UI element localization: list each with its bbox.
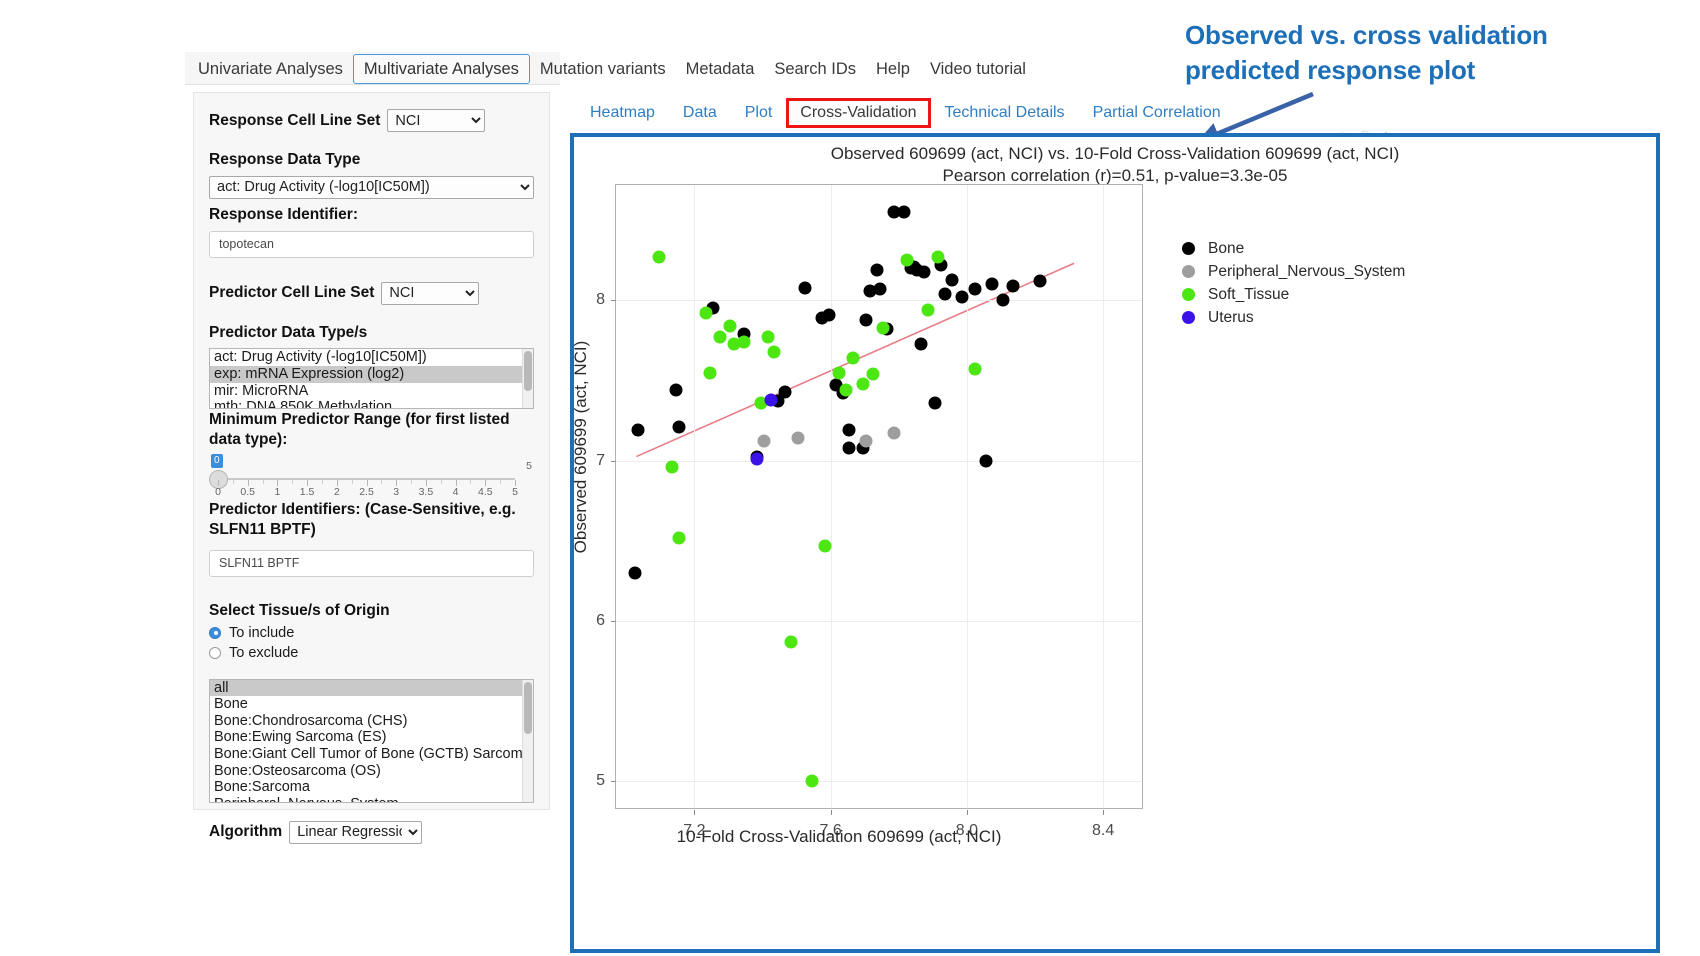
tissue-exclude-radio-row[interactable]: To exclude <box>209 645 534 661</box>
tab-cross-validation[interactable]: Cross-Validation <box>786 98 930 128</box>
radio-exclude-label: To exclude <box>229 645 298 661</box>
tissue-listbox[interactable]: all Bone Bone:Chondrosarcoma (CHS) Bone:… <box>209 679 534 803</box>
scatter-point[interactable] <box>931 251 944 264</box>
list-item[interactable]: Bone:Osteosarcoma (OS) <box>210 763 533 780</box>
scatter-point[interactable] <box>819 539 832 552</box>
algorithm-select[interactable]: Linear Regression <box>289 821 422 844</box>
algorithm-row: Algorithm Linear Regression <box>209 821 534 844</box>
cross-validation-plot-panel: Observed 609699 (act, NCI) vs. 10-Fold C… <box>570 133 1660 953</box>
scatter-point[interactable] <box>805 775 818 788</box>
scatter-point[interactable] <box>914 337 927 350</box>
scatter-point[interactable] <box>979 454 992 467</box>
listbox-scrollbar[interactable] <box>522 680 533 802</box>
scrollbar-thumb[interactable] <box>524 351 532 391</box>
scatter-point[interactable] <box>758 435 771 448</box>
x-tick-mark <box>831 810 832 815</box>
scatter-point[interactable] <box>761 331 774 344</box>
scatter-point[interactable] <box>955 291 968 304</box>
predictor-cell-line-set-row: Predictor Cell Line Set NCI <box>209 282 534 305</box>
scatter-point[interactable] <box>843 424 856 437</box>
tab-heatmap[interactable]: Heatmap <box>576 100 669 126</box>
scatter-point[interactable] <box>938 287 951 300</box>
scatter-point[interactable] <box>921 304 934 317</box>
scatter-point[interactable] <box>792 432 805 445</box>
plot-area[interactable]: 56787.27.68.08.4 <box>615 184 1143 809</box>
scatter-point[interactable] <box>877 321 890 334</box>
tab-partial-correlation[interactable]: Partial Correlation <box>1079 100 1235 126</box>
scatter-point[interactable] <box>799 281 812 294</box>
legend-swatch-peripheral-nervous-system <box>1182 265 1195 278</box>
scatter-point[interactable] <box>843 441 856 454</box>
list-item[interactable]: mir: MicroRNA <box>210 383 533 400</box>
scatter-point[interactable] <box>724 320 737 333</box>
scatter-point[interactable] <box>969 283 982 296</box>
y-tick-mark <box>611 461 616 462</box>
predictor-data-types-label: Predictor Data Type/s <box>209 323 534 343</box>
nav-item-search-ids[interactable]: Search IDs <box>764 55 866 83</box>
scatter-point[interactable] <box>669 384 682 397</box>
scatter-point[interactable] <box>874 283 887 296</box>
y-tick-mark <box>611 621 616 622</box>
slider-tick-labels: 0 0.5 1 1.5 2 2.5 3 3.5 4 4.5 5 <box>209 486 524 498</box>
list-item[interactable]: all <box>210 680 533 697</box>
list-item[interactable]: Peripheral_Nervous_System <box>210 796 533 803</box>
algorithm-label: Algorithm <box>209 822 282 842</box>
tab-data[interactable]: Data <box>669 100 731 126</box>
top-nav-items: Univariate Analyses Multivariate Analyse… <box>188 55 1036 83</box>
legend-item-peripheral-nervous-system[interactable]: Peripheral_Nervous_System <box>1182 260 1512 283</box>
scatter-point[interactable] <box>666 461 679 474</box>
legend-item-uterus[interactable]: Uterus <box>1182 306 1512 329</box>
scatter-point[interactable] <box>632 424 645 437</box>
scatter-point[interactable] <box>969 363 982 376</box>
radio-include-icon[interactable] <box>209 627 221 639</box>
nav-item-mutation-variants[interactable]: Mutation variants <box>530 55 676 83</box>
list-item[interactable]: Bone:Giant Cell Tumor of Bone (GCTB) Sar… <box>210 746 533 763</box>
scatter-point[interactable] <box>887 427 900 440</box>
predictor-cell-line-set-select[interactable]: NCI <box>381 282 479 305</box>
legend-label-uterus: Uterus <box>1208 309 1254 327</box>
gridline-vertical <box>694 185 695 808</box>
scatter-point[interactable] <box>673 531 686 544</box>
list-item[interactable]: act: Drug Activity (-log10[IC50M]) <box>210 349 533 366</box>
predictor-identifiers-input[interactable] <box>209 550 534 577</box>
tissue-include-radio-row[interactable]: To include <box>209 625 534 641</box>
list-item[interactable]: exp: mRNA Expression (log2) <box>210 366 533 383</box>
predictor-data-types-listbox[interactable]: act: Drug Activity (-log10[IC50M]) exp: … <box>209 348 534 409</box>
scatter-point[interactable] <box>901 254 914 267</box>
scatter-chart: Observed 609699 (act, NCI) vs. 10-Fold C… <box>574 137 1656 949</box>
y-tick-mark <box>611 781 616 782</box>
scatter-point[interactable] <box>856 377 869 390</box>
nav-item-multivariate-analyses[interactable]: Multivariate Analyses <box>353 54 530 84</box>
tissue-section-label: Select Tissue/s of Origin <box>209 601 534 621</box>
scatter-point[interactable] <box>1034 275 1047 288</box>
list-item[interactable]: Bone <box>210 696 533 713</box>
min-predictor-range-slider[interactable]: 0 5 0 0.5 1 1.5 2 <box>209 454 534 498</box>
gridline-vertical <box>967 185 968 808</box>
scatter-point[interactable] <box>768 345 781 358</box>
list-item[interactable]: Bone:Chondrosarcoma (CHS) <box>210 713 533 730</box>
nav-item-help[interactable]: Help <box>866 55 920 83</box>
x-tick-mark <box>1103 810 1104 815</box>
legend-swatch-bone <box>1182 242 1195 255</box>
scrollbar-thumb[interactable] <box>524 682 532 734</box>
legend-swatch-soft-tissue <box>1182 288 1195 301</box>
list-item[interactable]: Bone:Sarcoma <box>210 779 533 796</box>
scatter-point[interactable] <box>822 308 835 321</box>
chart-subtitle: Pearson correlation (r)=0.51, p-value=3.… <box>574 166 1656 186</box>
scatter-point[interactable] <box>897 206 910 219</box>
scatter-point[interactable] <box>860 313 873 326</box>
listbox-scrollbar[interactable] <box>522 349 533 408</box>
scatter-point[interactable] <box>751 453 764 466</box>
y-tick-label: 5 <box>571 772 605 790</box>
chart-title: Observed 609699 (act, NCI) vs. 10-Fold C… <box>574 143 1656 166</box>
x-tick-mark <box>694 810 695 815</box>
response-data-type-select[interactable]: act: Drug Activity (-log10[IC50M]) <box>209 176 534 199</box>
scatter-point[interactable] <box>833 366 846 379</box>
list-item[interactable]: mth: DNA 850K Methylation <box>210 399 533 409</box>
legend-item-soft-tissue[interactable]: Soft_Tissue <box>1182 283 1512 306</box>
scatter-point[interactable] <box>986 278 999 291</box>
y-tick-mark <box>611 300 616 301</box>
scatter-point[interactable] <box>628 566 641 579</box>
legend-label-bone: Bone <box>1208 240 1244 258</box>
gridline-vertical <box>1103 185 1104 808</box>
scatter-point[interactable] <box>713 331 726 344</box>
response-identifier-label: Response Identifier: <box>209 205 534 225</box>
scatter-point[interactable] <box>839 384 852 397</box>
scatter-point[interactable] <box>870 263 883 276</box>
predictor-cell-line-set-label: Predictor Cell Line Set <box>209 283 374 303</box>
result-tabs: Heatmap Data Plot Cross-Validation Techn… <box>576 98 1235 128</box>
response-identifier-input[interactable] <box>209 231 534 258</box>
annotation-callout-text: Observed vs. cross validation predicted … <box>1185 18 1605 88</box>
tab-technical-details[interactable]: Technical Details <box>931 100 1079 126</box>
scatter-point[interactable] <box>764 393 777 406</box>
radio-exclude-icon[interactable] <box>209 647 221 659</box>
nav-item-video-tutorial[interactable]: Video tutorial <box>920 55 1036 83</box>
nav-item-univariate-analyses[interactable]: Univariate Analyses <box>188 55 353 83</box>
scatter-point[interactable] <box>996 294 1009 307</box>
radio-include-label: To include <box>229 625 294 641</box>
list-item[interactable]: Bone:Ewing Sarcoma (ES) <box>210 729 533 746</box>
slider-value-bubble: 0 <box>211 454 223 468</box>
x-axis-label: 10-Fold Cross-Validation 609699 (act, NC… <box>519 827 1159 847</box>
x-tick-mark <box>967 810 968 815</box>
scatter-point[interactable] <box>1006 279 1019 292</box>
legend-label-soft-tissue: Soft_Tissue <box>1208 286 1289 304</box>
scatter-point[interactable] <box>867 368 880 381</box>
y-axis-label: Observed 609699 (act, NCI) <box>571 247 591 647</box>
scatter-point[interactable] <box>700 307 713 320</box>
response-cell-line-set-row: Response Cell Line Set NCI <box>209 109 534 132</box>
legend-item-bone[interactable]: Bone <box>1182 237 1512 260</box>
scatter-point[interactable] <box>918 265 931 278</box>
predictor-identifiers-label: Predictor Identifiers: (Case-Sensitive, … <box>209 500 534 540</box>
response-data-type-label: Response Data Type <box>209 150 534 170</box>
scatter-point[interactable] <box>860 435 873 448</box>
controls-sidebar: Response Cell Line Set NCI Response Data… <box>193 92 550 810</box>
scatter-point[interactable] <box>652 251 665 264</box>
response-cell-line-set-label: Response Cell Line Set <box>209 111 380 131</box>
nav-item-metadata[interactable]: Metadata <box>676 55 765 83</box>
scatter-point[interactable] <box>785 635 798 648</box>
legend-label-peripheral-nervous-system: Peripheral_Nervous_System <box>1208 263 1405 281</box>
scatter-point[interactable] <box>945 273 958 286</box>
scatter-point[interactable] <box>928 396 941 409</box>
response-cell-line-set-select[interactable]: NCI <box>387 109 485 132</box>
scatter-point[interactable] <box>778 385 791 398</box>
tab-plot[interactable]: Plot <box>731 100 787 126</box>
scatter-point[interactable] <box>737 336 750 349</box>
scatter-point[interactable] <box>846 352 859 365</box>
slider-max-label: 5 <box>526 460 532 472</box>
gridline-vertical <box>831 185 832 808</box>
scatter-point[interactable] <box>703 366 716 379</box>
legend-swatch-uterus <box>1182 311 1195 324</box>
chart-legend: Bone Peripheral_Nervous_System Soft_Tiss… <box>1182 237 1512 329</box>
min-predictor-range-label: Minimum Predictor Range (for first liste… <box>209 410 534 450</box>
scatter-point[interactable] <box>673 420 686 433</box>
